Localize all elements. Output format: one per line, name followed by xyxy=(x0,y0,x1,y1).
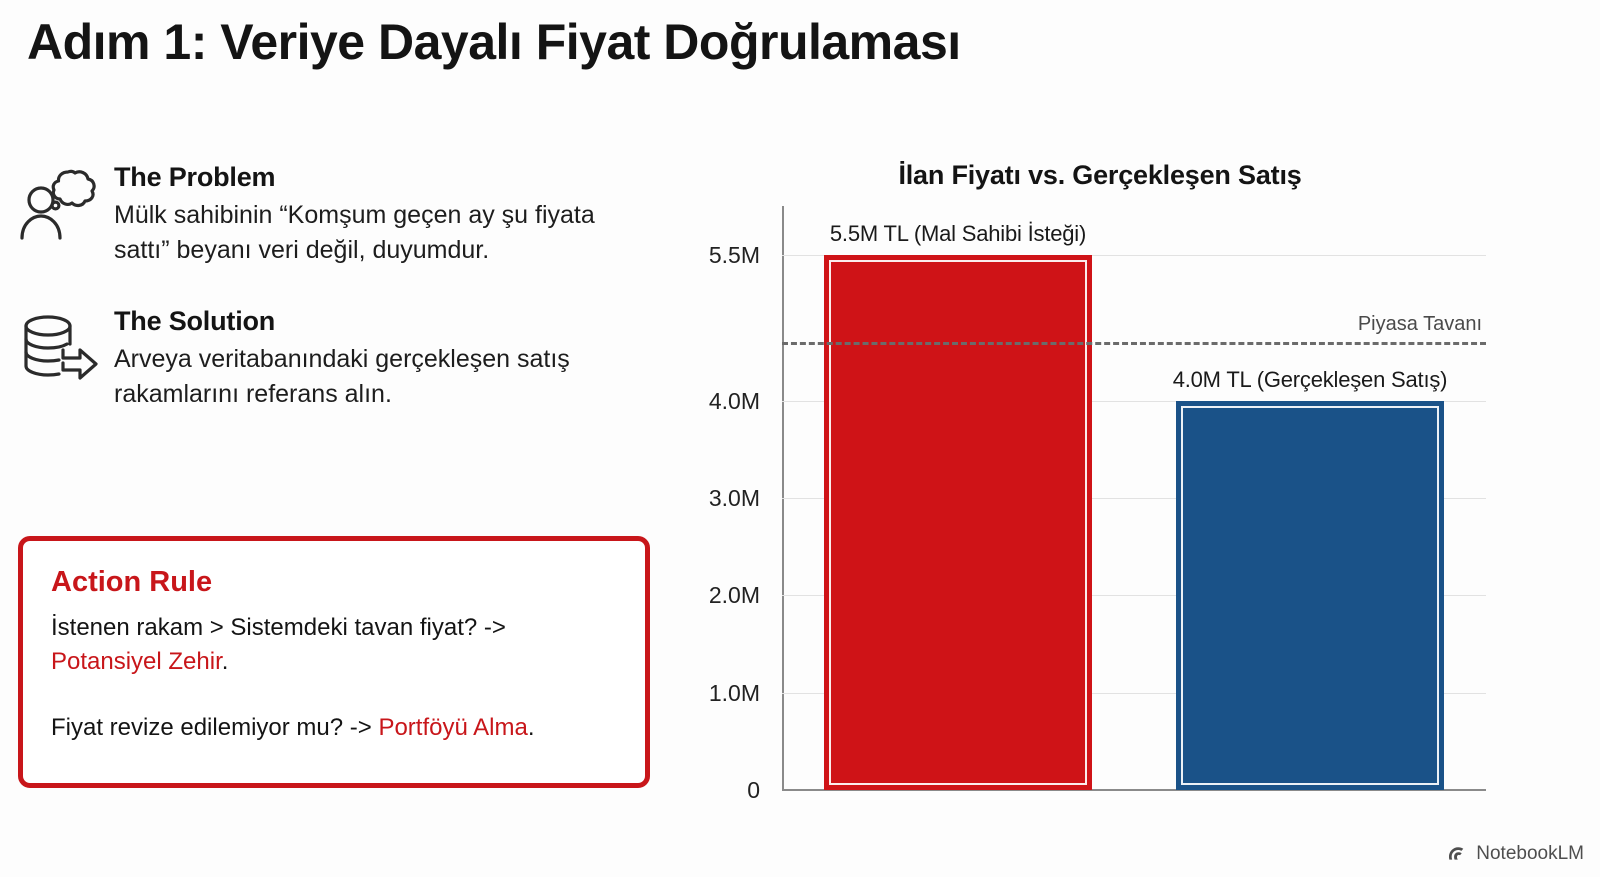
rule-spacer xyxy=(51,683,617,711)
point-the-problem: The Problem Mülk sahibinin “Komşum geçen… xyxy=(18,160,708,268)
point-text: Arveya veritabanındaki gerçekleşen satış… xyxy=(114,342,644,412)
point-body: The Problem Mülk sahibinin “Komşum geçen… xyxy=(114,160,708,268)
action-rule-title: Action Rule xyxy=(51,563,617,601)
point-the-solution: The Solution Arveya veritabanındaki gerç… xyxy=(18,304,708,412)
bar-inner-stroke xyxy=(1181,406,1439,785)
rule-text-plain: İstenen rakam > Sistemdeki tavan fiyat? … xyxy=(51,614,506,641)
bar-value-label: 4.0M TL (Gerçekleşen Satış) xyxy=(1173,367,1448,393)
notebooklm-logo-icon xyxy=(1448,846,1469,863)
chart-title: İlan Fiyatı vs. Gerçekleşen Satış xyxy=(700,160,1500,191)
database-arrow-icon xyxy=(18,308,104,386)
rule-text-suffix: . xyxy=(222,648,229,675)
y-axis-tick-label: 4.0M xyxy=(640,388,760,415)
rule-text-highlight: Potansiyel Zehir xyxy=(51,648,222,675)
notebooklm-watermark: NotebookLM xyxy=(1448,843,1584,865)
person-thought-bubble-icon xyxy=(18,164,104,242)
plot-area: 01.0M2.0M3.0M4.0M5.5M5.5M TL (Mal Sahibi… xyxy=(782,206,1486,790)
bar-1[interactable] xyxy=(824,255,1092,790)
y-axis-tick-label: 0 xyxy=(640,777,760,804)
watermark-label: NotebookLM xyxy=(1476,843,1584,865)
rule-text-highlight: Portföyü Alma xyxy=(378,714,527,741)
point-text: Mülk sahibinin “Komşum geçen ay şu fiyat… xyxy=(114,198,644,268)
bar-value-label: 5.5M TL (Mal Sahibi İsteği) xyxy=(830,221,1086,247)
y-axis-tick-label: 1.0M xyxy=(640,680,760,707)
bar-2[interactable] xyxy=(1176,401,1444,790)
rule-text-suffix: . xyxy=(528,714,535,741)
action-rule-line-2: Fiyat revize edilemiyor mu? -> Portföyü … xyxy=(51,711,617,745)
action-rule-line-1: İstenen rakam > Sistemdeki tavan fiyat? … xyxy=(51,611,617,679)
y-axis-tick-label: 5.5M xyxy=(640,242,760,269)
market-ceiling-line xyxy=(782,342,1486,345)
point-heading: The Solution xyxy=(114,304,708,338)
slide-canvas: Adım 1: Veriye Dayalı Fiyat Doğrulaması … xyxy=(0,0,1600,877)
page-title: Adım 1: Veriye Dayalı Fiyat Doğrulaması xyxy=(27,10,1327,74)
left-content-column: The Problem Mülk sahibinin “Komşum geçen… xyxy=(18,160,708,438)
point-body: The Solution Arveya veritabanındaki gerç… xyxy=(114,304,708,412)
point-heading: The Problem xyxy=(114,160,708,194)
market-ceiling-label: Piyasa Tavanı xyxy=(1358,313,1482,342)
rule-text-plain: Fiyat revize edilemiyor mu? -> xyxy=(51,714,378,741)
y-axis-tick-label: 3.0M xyxy=(640,485,760,512)
y-axis-tick-label: 2.0M xyxy=(640,582,760,609)
bar-inner-stroke xyxy=(829,260,1087,785)
action-rule-box: Action Rule İstenen rakam > Sistemdeki t… xyxy=(18,536,650,788)
bar-chart: İlan Fiyatı vs. Gerçekleşen Satış 01.0M2… xyxy=(700,150,1520,830)
